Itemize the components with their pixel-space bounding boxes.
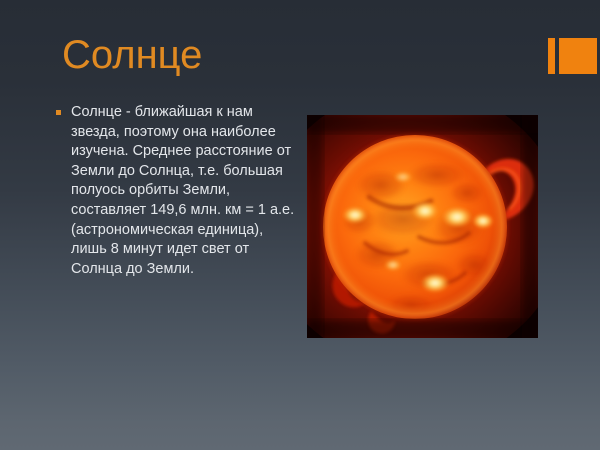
list-item: Солнце - ближайшая к нам звезда, поэтому… [55, 103, 295, 279]
orange-thin-bar [548, 38, 555, 74]
sun-photograph-icon [307, 115, 538, 338]
presentation-slide: Солнце Солнце - ближайшая к нам звезда, … [0, 0, 600, 450]
sun-image [307, 115, 538, 338]
list-item-label: Солнце - ближайшая к нам звезда, поэтому… [71, 104, 294, 277]
orange-wide-block [559, 38, 597, 74]
slide-body: Солнце - ближайшая к нам звезда, поэтому… [55, 103, 295, 279]
slide-title: Солнце [62, 32, 202, 78]
bullet-square-icon [56, 110, 61, 115]
decorative-orange-marks [546, 38, 600, 74]
